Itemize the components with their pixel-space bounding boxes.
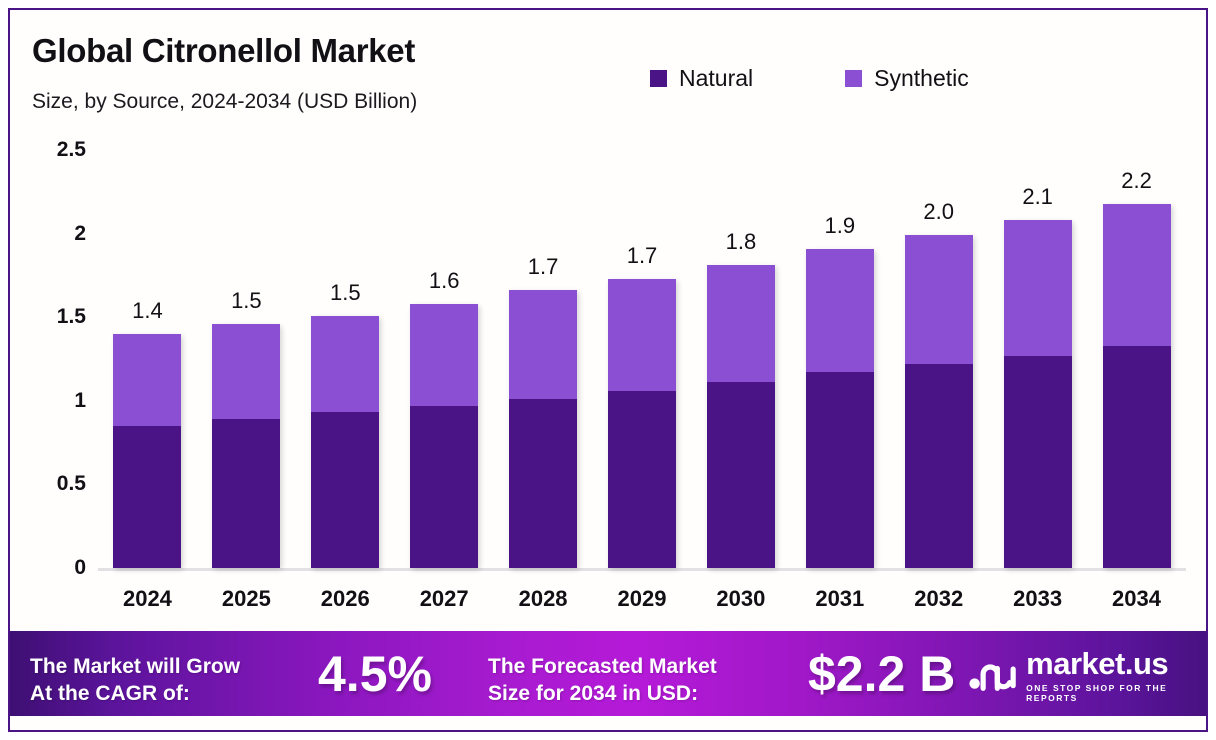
forecast-size-value: $2.2 B (808, 649, 955, 699)
bar-segment-natural[interactable] (608, 391, 676, 568)
legend-item-natural[interactable]: Natural (650, 65, 753, 92)
bar-segment-natural[interactable] (707, 382, 775, 568)
bar-value-label-2034: 2.2 (1067, 168, 1207, 194)
bar-segment-natural[interactable] (311, 412, 379, 567)
bar-group-2025[interactable]: 1.52025 (212, 128, 280, 635)
bar-segment-synthetic[interactable] (509, 290, 577, 399)
bar-segment-synthetic[interactable] (1004, 220, 1072, 355)
bar-segment-synthetic[interactable] (905, 235, 973, 364)
x-axis-tick-2034: 2034 (1067, 586, 1207, 612)
forecast-size-label-line1: The Forecasted Market (488, 653, 717, 680)
stacked-bar[interactable] (311, 316, 379, 568)
bar-segment-natural[interactable] (1103, 346, 1171, 568)
chart-plot-area: 00.511.522.5 1.420241.520251.520261.6202… (10, 128, 1208, 635)
stacked-bar[interactable] (1103, 204, 1171, 568)
bar-segment-natural[interactable] (1004, 356, 1072, 568)
bar-segment-natural[interactable] (212, 419, 280, 568)
page-title: Global Citronellol Market (32, 32, 415, 70)
bar-group-2026[interactable]: 1.52026 (311, 128, 379, 635)
infographic-frame: Global Citronellol Market Size, by Sourc… (8, 8, 1208, 732)
footer-banner: The Market will Grow At the CAGR of: 4.5… (8, 631, 1208, 716)
square-swatch-icon (845, 70, 862, 87)
bar-segment-natural[interactable] (806, 372, 874, 568)
bar-group-2029[interactable]: 1.72029 (608, 128, 676, 635)
stacked-bar[interactable] (212, 324, 280, 568)
square-swatch-icon (650, 70, 667, 87)
market-us-logo[interactable]: market.us ONE STOP SHOP FOR THE REPORTS (968, 648, 1208, 703)
logo-name: market.us (1026, 648, 1208, 679)
bar-group-2028[interactable]: 1.72028 (509, 128, 577, 635)
stacked-bar[interactable] (509, 290, 577, 568)
bar-segment-synthetic[interactable] (113, 334, 181, 426)
page-subtitle: Size, by Source, 2024-2034 (USD Billion) (32, 90, 417, 114)
stacked-bar[interactable] (806, 249, 874, 568)
bar-group-2024[interactable]: 1.42024 (113, 128, 181, 635)
bar-segment-natural[interactable] (113, 426, 181, 568)
chart-legend: NaturalSynthetic (650, 65, 969, 92)
stacked-bar[interactable] (410, 304, 478, 568)
y-axis-tick-2.5: 2.5 (57, 138, 86, 162)
forecast-size-label-line2: Size for 2034 in USD: (488, 680, 717, 707)
forecast-size-label: The Forecasted Market Size for 2034 in U… (488, 653, 717, 708)
bar-segment-natural[interactable] (509, 399, 577, 568)
stacked-bar[interactable] (113, 334, 181, 568)
legend-label: Natural (679, 65, 753, 92)
bar-segment-synthetic[interactable] (608, 279, 676, 391)
cagr-label-line1: The Market will Grow (30, 653, 240, 680)
bar-segment-synthetic[interactable] (806, 249, 874, 373)
legend-item-synthetic[interactable]: Synthetic (845, 65, 969, 92)
bar-segment-synthetic[interactable] (212, 324, 280, 419)
cagr-label: The Market will Grow At the CAGR of: (30, 653, 240, 708)
bar-group-2031[interactable]: 1.92031 (806, 128, 874, 635)
logo-tagline: ONE STOP SHOP FOR THE REPORTS (1026, 683, 1208, 703)
bar-segment-synthetic[interactable] (410, 304, 478, 406)
stacked-bar[interactable] (905, 235, 973, 568)
chart-header: Global Citronellol Market Size, by Sourc… (10, 10, 1206, 128)
cagr-value: 4.5% (318, 649, 432, 699)
bar-group-2034[interactable]: 2.22034 (1103, 128, 1171, 635)
stacked-bar[interactable] (608, 279, 676, 568)
y-axis-tick-0.5: 0.5 (57, 472, 86, 496)
bar-segment-natural[interactable] (410, 406, 478, 568)
bar-segment-synthetic[interactable] (311, 316, 379, 413)
bar-segment-natural[interactable] (905, 364, 973, 568)
cagr-label-line2: At the CAGR of: (30, 680, 240, 707)
stacked-bar[interactable] (1004, 220, 1072, 568)
y-axis-tick-2: 2 (74, 222, 86, 246)
bar-group-2033[interactable]: 2.12033 (1004, 128, 1072, 635)
bars-container: 1.420241.520251.520261.620271.720281.720… (98, 128, 1186, 635)
bar-segment-synthetic[interactable] (707, 265, 775, 382)
legend-label: Synthetic (874, 65, 969, 92)
y-axis-tick-0: 0 (74, 556, 86, 580)
bar-group-2030[interactable]: 1.82030 (707, 128, 775, 635)
stacked-bar[interactable] (707, 265, 775, 568)
y-axis: 00.511.522.5 (10, 128, 98, 635)
market-us-logo-text: market.us ONE STOP SHOP FOR THE REPORTS (1026, 648, 1208, 703)
bar-group-2032[interactable]: 2.02032 (905, 128, 973, 635)
y-axis-tick-1: 1 (74, 389, 86, 413)
bar-group-2027[interactable]: 1.62027 (410, 128, 478, 635)
market-us-logo-mark (968, 658, 1017, 694)
bar-segment-synthetic[interactable] (1103, 204, 1171, 346)
